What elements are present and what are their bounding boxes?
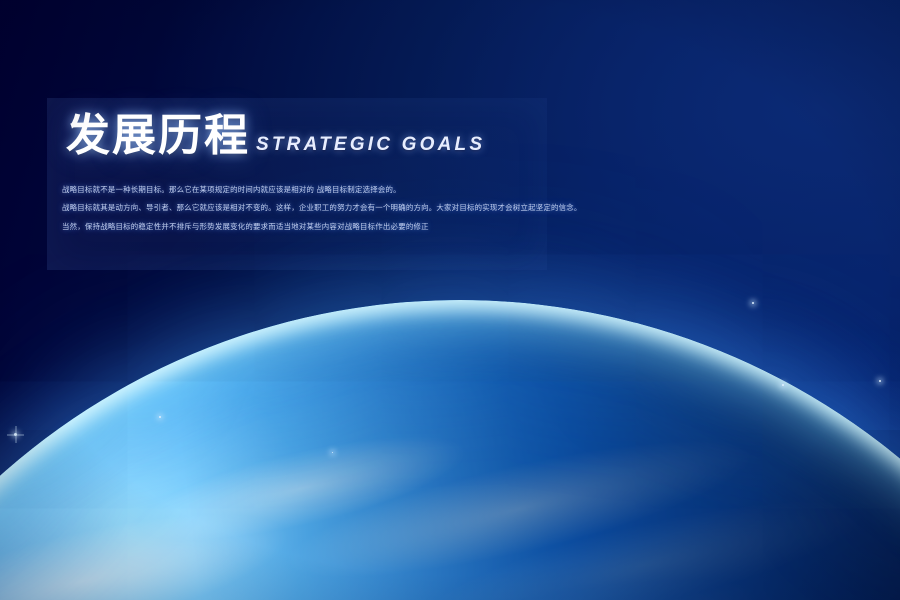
body-copy: 战略目标就不是一种长期目标。那么它在某项规定的时间内就应该是相对的 战略目标制定… [62, 184, 532, 239]
star-left-bright [14, 433, 17, 436]
page-title: 发展历程 [66, 114, 250, 158]
headline-group: 发展历程 STRATEGIC GOALS [66, 114, 485, 158]
star-far-right [879, 380, 881, 382]
body-line: 战略目标就其是动方向、导引者、那么它就应该是相对不变的。这样，企业职工的努力才会… [62, 202, 532, 214]
page-subtitle: STRATEGIC GOALS [256, 134, 485, 156]
promo-banner: 发展历程 STRATEGIC GOALS 战略目标就不是一种长期目标。那么它在某… [0, 0, 900, 600]
body-line: 当然，保持战略目标的稳定性并不排斥与形势发展变化的要求而适当地对某些内容对战略目… [62, 221, 532, 233]
star-mid-right [752, 302, 754, 304]
body-line: 战略目标就不是一种长期目标。那么它在某项规定的时间内就应该是相对的 战略目标制定… [62, 184, 532, 196]
